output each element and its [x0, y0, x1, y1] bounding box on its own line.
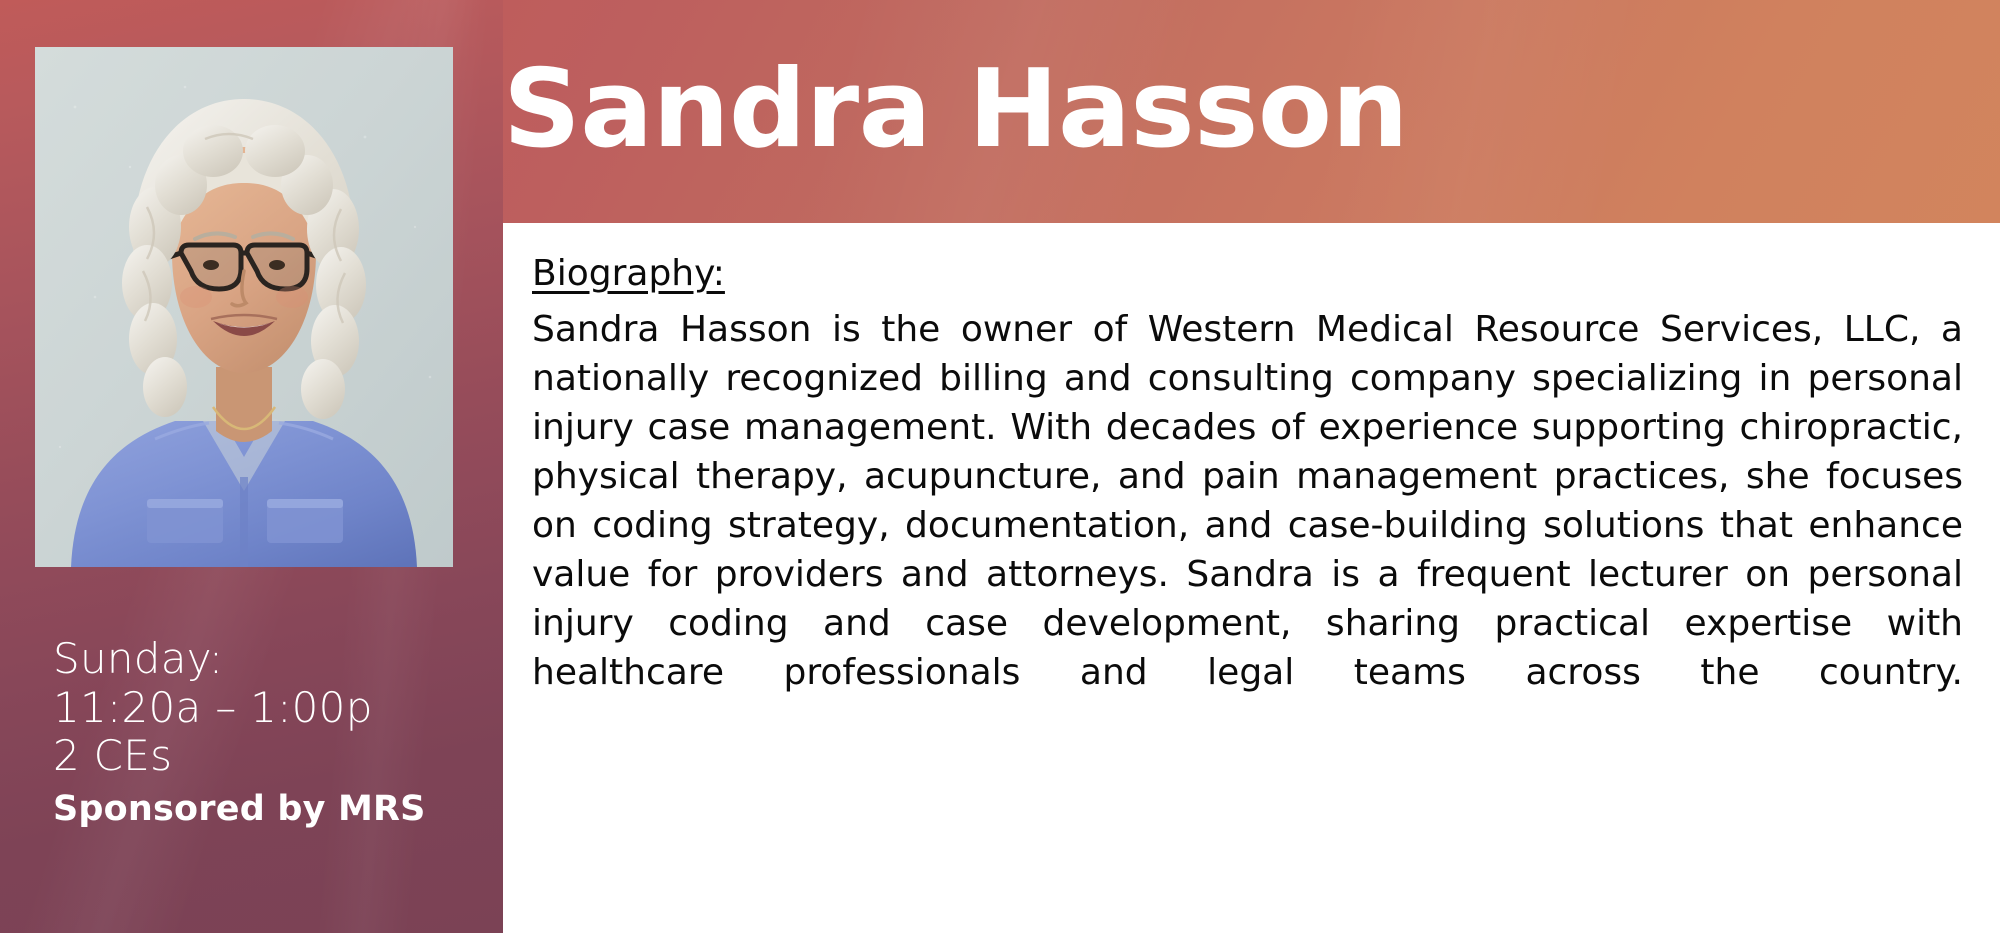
biography-body: Sandra Hasson is the owner of Western Me… [532, 305, 1963, 746]
speaker-profile-slide: Sandra Hasson Sunday: 11:20a – 1:00p 2 C… [0, 0, 2000, 933]
schedule-credits: 2 CEs [53, 732, 473, 781]
schedule-day: Sunday: [53, 635, 473, 684]
schedule-sponsor: Sponsored by MRS [53, 789, 473, 829]
headshot-illustration [35, 47, 453, 567]
speaker-name: Sandra Hasson [503, 52, 1963, 169]
schedule-block: Sunday: 11:20a – 1:00p 2 CEs Sponsored b… [53, 635, 473, 829]
schedule-time: 11:20a – 1:00p [53, 684, 473, 733]
biography-block: Biography: Sandra Hasson is the owner of… [532, 252, 1963, 746]
biography-heading: Biography: [532, 252, 1963, 295]
speaker-headshot-photo [35, 47, 453, 567]
